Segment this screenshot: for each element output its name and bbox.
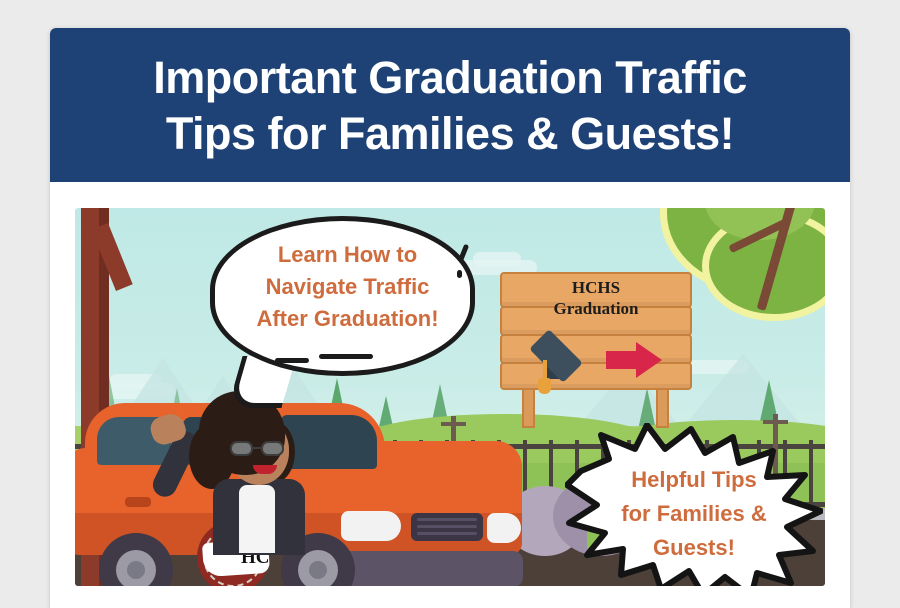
mountain-icon xyxy=(681,354,805,430)
wheel-hub xyxy=(116,550,156,586)
right-arrow-icon xyxy=(606,342,662,378)
car-headlight-left xyxy=(341,511,401,541)
bubble-accent-dash xyxy=(457,270,462,278)
burst-line-2: for Families & xyxy=(591,497,797,531)
graduation-cap-icon xyxy=(532,334,582,384)
arrow-body xyxy=(606,351,640,369)
arrow-head xyxy=(636,342,662,378)
car-headlight-right xyxy=(487,513,521,543)
grille-line xyxy=(417,525,477,528)
glasses-bridge xyxy=(253,447,261,449)
cap-board xyxy=(529,329,583,383)
burst-line-3: Guests! xyxy=(591,531,797,565)
driver-glasses-icon xyxy=(230,441,288,456)
grille-line xyxy=(417,532,477,535)
grille-line xyxy=(417,518,477,521)
car-door-handle xyxy=(125,497,151,507)
driver-shirt xyxy=(239,485,275,553)
wheel-hub-center xyxy=(127,561,145,579)
illustration-container: HCHS Graduation xyxy=(50,182,850,586)
glasses-lens-left xyxy=(230,441,253,456)
wheel-hub xyxy=(298,550,338,586)
sign-plank xyxy=(500,334,692,364)
announcement-card: Important Graduation Traffic Tips for Fa… xyxy=(50,28,850,608)
hchs-graduation-sign: HCHS Graduation xyxy=(500,272,692,390)
orange-car: HC xyxy=(75,393,537,586)
burst-line-1: Helpful Tips xyxy=(591,463,797,497)
page-banner: Important Graduation Traffic Tips for Fa… xyxy=(50,28,850,182)
cloud-icon xyxy=(473,252,521,266)
cap-tassel xyxy=(543,360,547,380)
helpful-tips-burst: Helpful Tips for Families & Guests! xyxy=(565,423,823,586)
wheel-hub-center xyxy=(309,561,327,579)
speech-bubble-line-3: After Graduation! xyxy=(215,303,480,335)
sign-plank xyxy=(500,362,692,390)
page-title-line-1: Important Graduation Traffic xyxy=(76,50,824,106)
cap-tassel-end xyxy=(538,378,551,394)
page-title-line-2: Tips for Families & Guests! xyxy=(76,106,824,162)
bubble-accent-dash xyxy=(275,358,309,363)
car-grille xyxy=(411,513,483,541)
speech-bubble-line-2: Navigate Traffic xyxy=(215,271,480,303)
car-windshield xyxy=(281,415,377,469)
sign-text-line-1: HCHS xyxy=(500,277,692,298)
glasses-lens-right xyxy=(261,441,284,456)
driver-speech-bubble: Learn How to Navigate Traffic After Grad… xyxy=(210,216,475,376)
bubble-accent-dash xyxy=(319,354,373,359)
graduation-traffic-illustration: HCHS Graduation xyxy=(75,208,825,586)
page-root: Important Graduation Traffic Tips for Fa… xyxy=(0,0,900,600)
speech-bubble-line-1: Learn How to xyxy=(215,239,480,271)
sign-text-line-2: Graduation xyxy=(500,298,692,319)
